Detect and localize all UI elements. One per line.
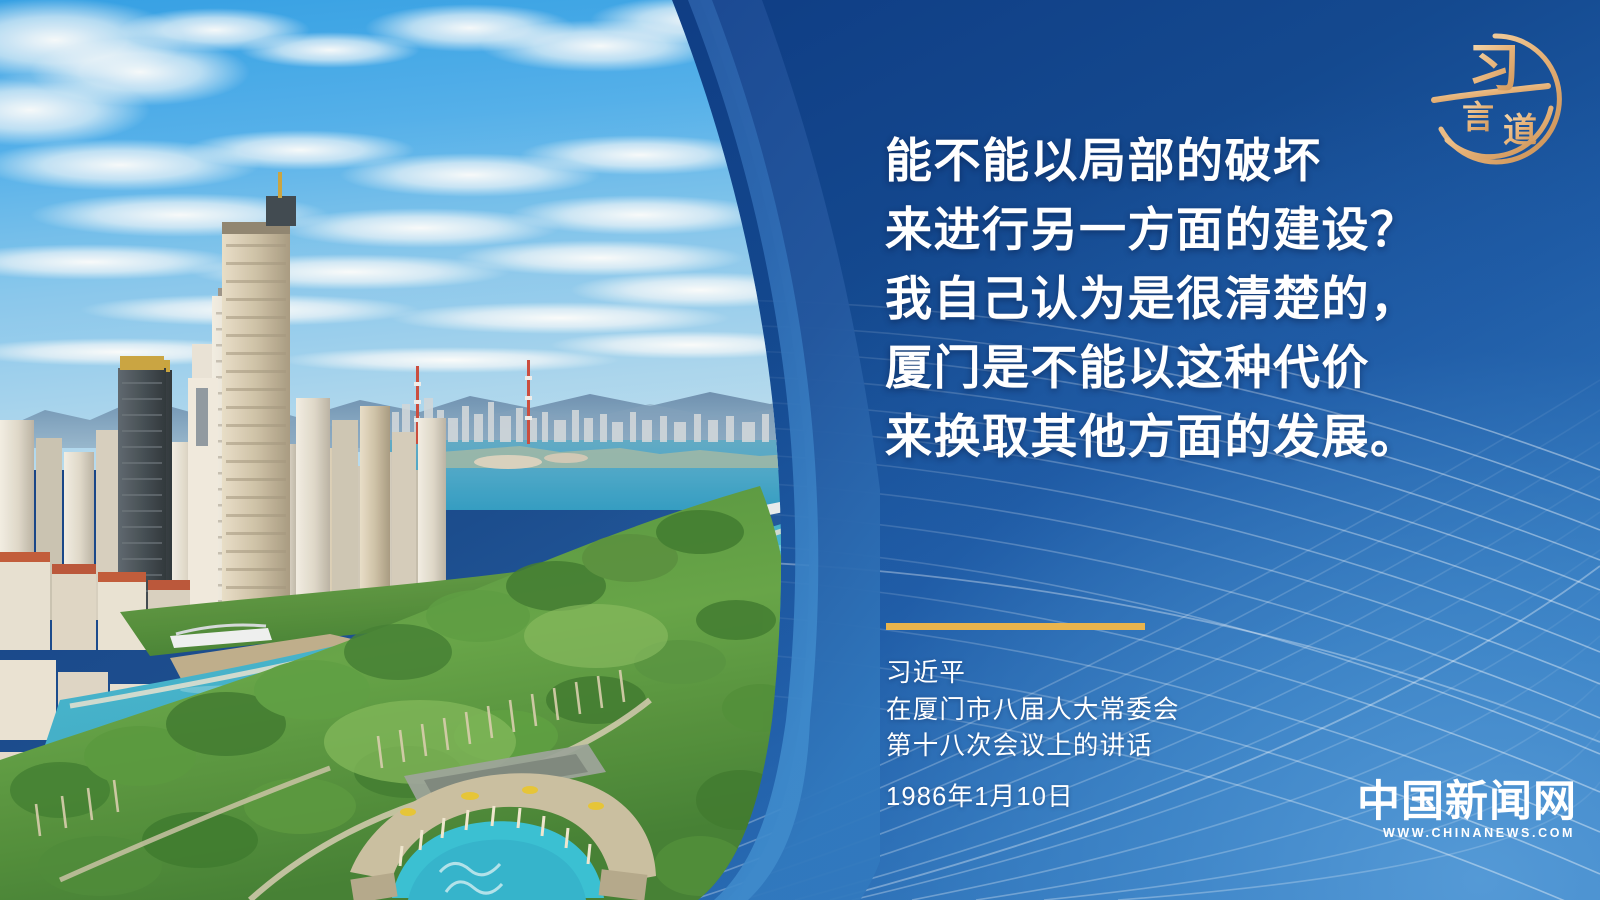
xi-yan-dao-seal-icon: 习 言 道 — [1420, 24, 1570, 174]
attribution-block: 习近平 在厦门市八届人大常委会 第十八次会议上的讲话 1986年1月10日 — [886, 655, 1180, 816]
quote-line-4: 厦门是不能以这种代价 — [885, 333, 1445, 402]
cn-char-xin: 新 — [1445, 777, 1488, 827]
attribution-speaker: 习近平 — [886, 655, 1180, 692]
seal-char-xi: 习 — [1468, 39, 1520, 99]
quote-line-5: 来换取其他方面的发展。 — [885, 402, 1445, 471]
attribution-occasion-line-1: 在厦门市八届人大常委会 — [886, 692, 1180, 729]
attribution-date: 1986年1月10日 — [886, 779, 1180, 816]
quote-line-3: 我自己认为是很清楚的， — [885, 264, 1445, 333]
chinanews-url: WWW.CHINANEWS.COM — [1379, 826, 1579, 840]
quote-text-block: 能不能以局部的破坏 来进行另一方面的建设？ 我自己认为是很清楚的， 厦门是不能以… — [885, 126, 1445, 471]
cn-char-wen: 闻 — [1489, 777, 1532, 827]
cn-char-wang: 网 — [1533, 777, 1576, 827]
cn-char-guo: 国 — [1401, 777, 1444, 827]
attribution-occasion-line-2: 第十八次会议上的讲话 — [886, 728, 1180, 765]
seal-char-dao: 道 — [1503, 111, 1537, 151]
quote-poster: 能不能以局部的破坏 来进行另一方面的建设？ 我自己认为是很清楚的， 厦门是不能以… — [0, 0, 1600, 900]
cn-char-zhong: 中 — [1357, 777, 1400, 827]
xiamen-aerial-photo — [0, 0, 820, 900]
gold-divider-rule — [886, 623, 1145, 630]
seal-char-yan: 言 — [1462, 98, 1494, 136]
quote-line-1: 能不能以局部的破坏 — [885, 126, 1445, 195]
quote-line-2: 来进行另一方面的建设？ — [885, 195, 1445, 264]
